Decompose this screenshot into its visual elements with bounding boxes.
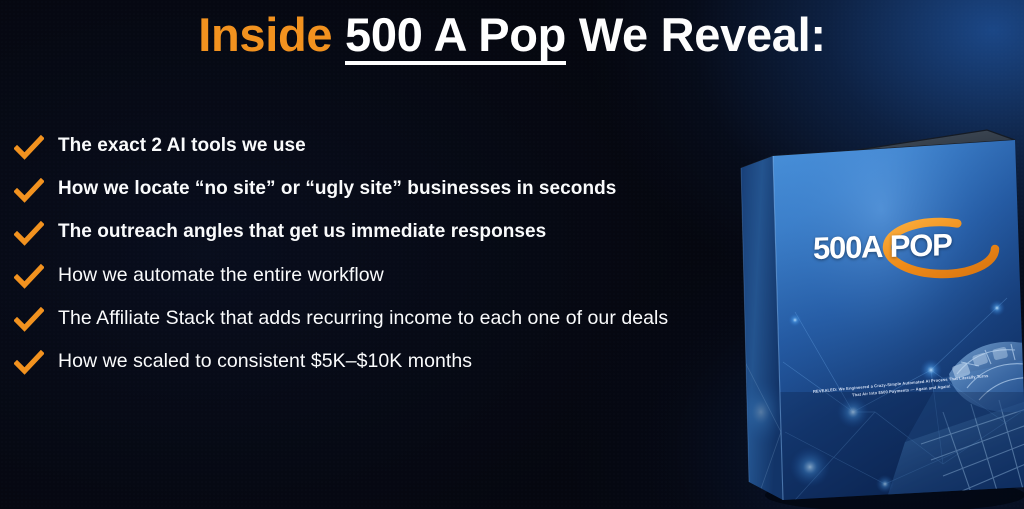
page-title: Inside 500 A Pop We Reveal:: [0, 8, 1024, 65]
list-item-label: How we automate the entire workflow: [58, 260, 384, 290]
list-item-label: How we scaled to consistent $5K–$10K mon…: [58, 346, 472, 376]
glow-orb: [788, 313, 802, 327]
check-icon: [14, 350, 44, 376]
list-item: How we automate the entire workflow: [14, 260, 674, 290]
check-icon: [14, 178, 44, 204]
list-item: The Affiliate Stack that adds recurring …: [14, 303, 674, 333]
list-item-label: The outreach angles that get us immediat…: [58, 217, 546, 247]
check-icon: [14, 307, 44, 333]
list-item: The outreach angles that get us immediat…: [14, 217, 674, 247]
glow-orb: [920, 359, 942, 381]
list-item: How we locate “no site” or “ugly site” b…: [14, 174, 674, 204]
headline-part-inside: Inside: [198, 8, 332, 61]
check-icon: [14, 135, 44, 161]
promo-hero-section: Inside 500 A Pop We Reveal: The exact 2 …: [0, 0, 1024, 509]
box-front-artwork: [773, 136, 1024, 504]
feature-bullet-list: The exact 2 AI tools we use How we locat…: [14, 131, 674, 389]
glow-orb: [989, 300, 1005, 316]
check-icon: [14, 221, 44, 247]
headline-part-brand: 500 A Pop: [345, 11, 566, 65]
check-icon: [14, 264, 44, 290]
product-box-graphic: [735, 112, 1024, 502]
list-item: The exact 2 AI tools we use: [14, 131, 674, 161]
list-item: How we scaled to consistent $5K–$10K mon…: [14, 346, 674, 376]
headline-part-reveal: We Reveal:: [579, 8, 826, 61]
product-box-mockup: 500A.POP REVEALED: We Engineered a Crazy…: [735, 112, 1024, 502]
list-item-label: The Affiliate Stack that adds recurring …: [58, 303, 668, 333]
list-item-label: How we locate “no site” or “ugly site” b…: [58, 174, 616, 204]
list-item-label: The exact 2 AI tools we use: [58, 131, 306, 161]
